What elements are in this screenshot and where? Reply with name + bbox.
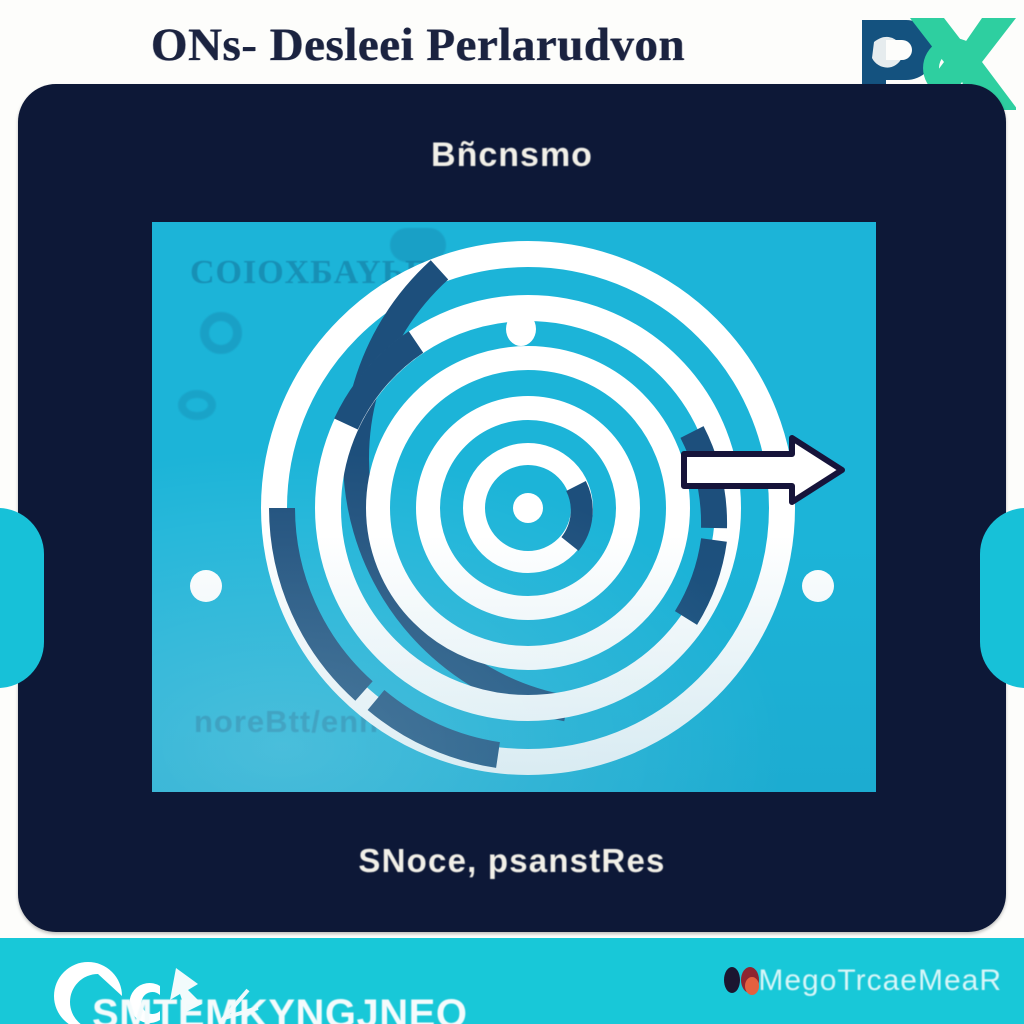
screen-panel: COIOXБAYЬБ noreBtt/ennes	[152, 222, 876, 792]
screen-dot-right	[802, 570, 834, 602]
footer-bar: SMTEMKYNGJNEO MegoTrcaeMeaR	[0, 938, 1024, 1024]
side-tab-left[interactable]	[0, 508, 44, 688]
screen-dot-top	[506, 312, 536, 346]
ghost-ring-shape-2	[178, 390, 216, 420]
panel-heading: Bñcnsmo	[18, 136, 1006, 175]
footer-right-text: MegoTrcaeMeaR	[758, 964, 1002, 998]
right-arrow-icon	[680, 434, 846, 506]
concentric-rings-graphic	[248, 228, 808, 788]
side-tab-right[interactable]	[980, 508, 1024, 688]
panel-caption: SNoce, psanstRes	[18, 842, 1006, 880]
device-frame: Bñcnsmo COIOXБAYЬБ noreBtt/ennes	[18, 84, 1006, 932]
page-title: ONs- Desleei Perlarudvon	[0, 10, 836, 80]
footer-accent-icon	[722, 966, 762, 996]
screen-dot-left	[190, 570, 222, 602]
ghost-ring-shape	[200, 312, 242, 354]
screenshot-root: ONs- Desleei Perlarudvon Bñcnsmo COIOXБA	[0, 0, 1024, 1024]
footer-wordmark: SMTEMKYNGJNEO	[92, 992, 467, 1024]
